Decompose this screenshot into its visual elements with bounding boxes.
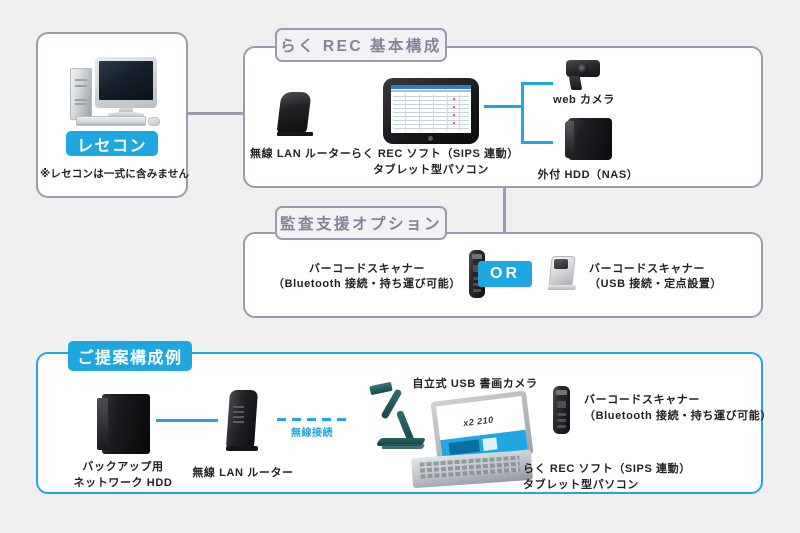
- tablet-pc-label-line1: らく REC ソフト（SIPS 連動）: [351, 147, 511, 163]
- usb-scanner-label-line2: （USB 接続・定点設置）: [589, 277, 722, 293]
- desktop-pc-icon: [62, 54, 166, 126]
- web-camera-label: web カメラ: [538, 93, 630, 109]
- proposal-tablet-label-line1: らく REC ソフト（SIPS 連動）: [523, 462, 691, 478]
- rececon-device-label-text: レセコン: [77, 132, 147, 156]
- external-hdd-label: 外付 HDD（NAS）: [532, 168, 644, 184]
- connector-hdd-to-router: [156, 419, 218, 422]
- tablet-pc-icon: [383, 78, 479, 144]
- bluetooth-scanner-label-line2: （Bluetooth 接続・持ち運び可能）: [270, 277, 464, 293]
- diagram-canvas: レセコン ※レセコンは一式に含みません らく REC 基本構成 無線 LAN ル…: [0, 0, 800, 533]
- external-hdd-icon: [560, 116, 616, 162]
- proposal-tablet-label-line2: タブレット型パソコン: [523, 478, 639, 494]
- backup-network-hdd-icon: [92, 392, 154, 456]
- wireless-lan-router-icon: [275, 90, 321, 140]
- wireless-link-dashed: [277, 418, 347, 421]
- wireless-link-label: 無線接続: [277, 427, 347, 442]
- or-badge: OR: [478, 261, 532, 287]
- basic-configuration-title-text: らく REC 基本構成: [280, 34, 442, 56]
- proposal-wireless-lan-router-label: 無線 LAN ルーター: [190, 466, 296, 482]
- tablet-pc-label-line2: タブレット型パソコン: [351, 163, 511, 179]
- blue-stem-vertical: [521, 82, 524, 144]
- rececon-note: ※レセコンは一式に含みません: [40, 166, 189, 181]
- blue-branch-webcam: [521, 82, 553, 85]
- wireless-lan-router-label: 無線 LAN ルーター: [250, 147, 346, 163]
- web-camera-icon: [560, 58, 606, 98]
- backup-network-hdd-label-line2: ネットワーク HDD: [68, 476, 178, 492]
- usb-barcode-scanner-icon: [546, 252, 580, 296]
- basic-configuration-title: らく REC 基本構成: [275, 28, 447, 62]
- proposal-title: ご提案構成例: [68, 341, 192, 371]
- audit-option-title-text: 監査支援オプション: [280, 212, 442, 234]
- proposal-bluetooth-scanner-icon: [550, 386, 574, 434]
- usb-document-camera-label: 自立式 USB 書画カメラ: [400, 377, 550, 393]
- backup-network-hdd-label-line1: バックアップ用: [68, 460, 178, 476]
- proposal-bluetooth-scanner-label-line2: （Bluetooth 接続・持ち運び可能）: [584, 409, 772, 425]
- rececon-device-label: レセコン: [66, 131, 158, 156]
- connector-basic-to-audit: [503, 188, 506, 234]
- proposal-bluetooth-scanner-label-line1: バーコードスキャナー: [584, 393, 700, 409]
- blue-stem-horizontal: [484, 105, 524, 108]
- or-badge-text: OR: [490, 265, 520, 283]
- proposal-title-text: ご提案構成例: [77, 344, 182, 368]
- proposal-wireless-lan-router-icon: [222, 388, 264, 456]
- usb-scanner-label-line1: バーコードスキャナー: [589, 262, 705, 278]
- blue-branch-hdd: [521, 141, 553, 144]
- bluetooth-scanner-label-line1: バーコードスキャナー: [270, 262, 464, 278]
- audit-option-title: 監査支援オプション: [275, 206, 447, 240]
